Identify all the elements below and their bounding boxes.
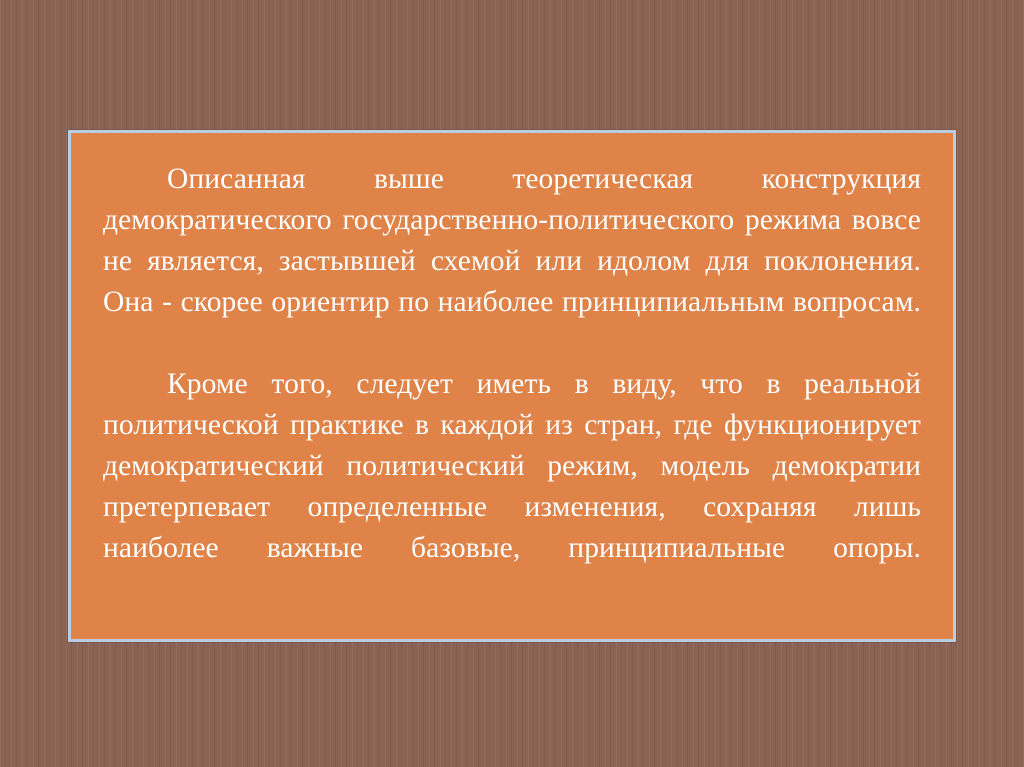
- paragraph-2: Кроме того, следует иметь в виду, что в …: [103, 364, 921, 610]
- content-panel: Описанная выше теоретическая конструкция…: [68, 130, 956, 642]
- slide-root: Описанная выше теоретическая конструкция…: [0, 0, 1024, 767]
- content-body: Описанная выше теоретическая конструкция…: [71, 133, 953, 610]
- paragraph-1: Описанная выше теоретическая конструкция…: [103, 159, 921, 364]
